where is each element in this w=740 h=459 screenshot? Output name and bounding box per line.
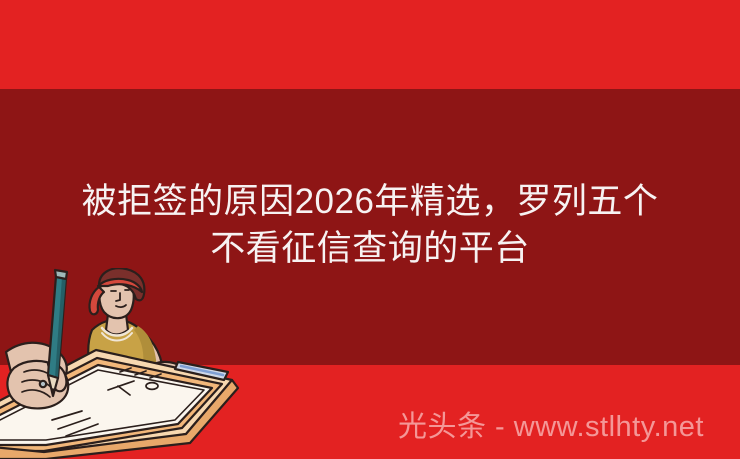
site-watermark: 光头条 - www.stlhty.net: [398, 408, 704, 446]
poster-canvas: 被拒签的原因2026年精选，罗列五个 不看征信查询的平台 光头条 - www.s…: [0, 0, 740, 459]
hand-ring: [40, 381, 46, 387]
drafting-table-illustration: [0, 268, 252, 459]
pencil-eraser: [55, 270, 67, 279]
top-red-band: [0, 0, 740, 89]
